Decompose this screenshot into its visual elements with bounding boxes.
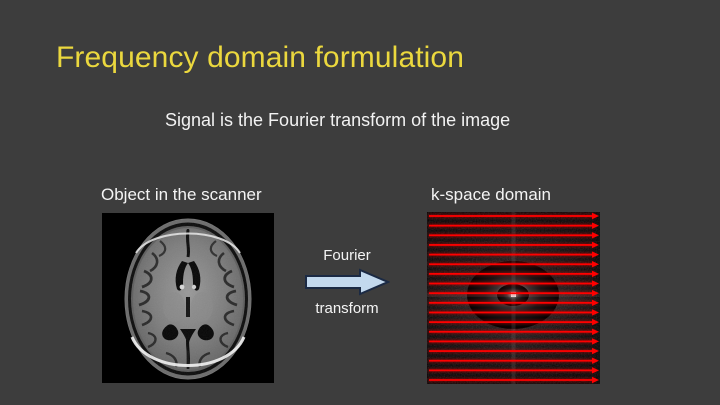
kspace-image	[427, 212, 600, 384]
fourier-transform-annotation: Fourier transform	[297, 246, 397, 318]
right-panel-caption: k-space domain	[431, 184, 551, 206]
fourier-label: Fourier	[297, 246, 397, 265]
brain-mri-svg	[102, 213, 274, 383]
brain-mri-image	[102, 213, 274, 383]
transform-label: transform	[297, 299, 397, 318]
page-title: Frequency domain formulation	[56, 40, 464, 76]
slide-canvas: Frequency domain formulation Signal is t…	[0, 0, 720, 405]
right-arrow-icon	[297, 268, 397, 296]
left-panel-caption: Object in the scanner	[101, 184, 262, 206]
slide-subtitle: Signal is the Fourier transform of the i…	[165, 108, 510, 132]
kspace-svg	[427, 212, 600, 384]
right-arrow-svg	[304, 268, 390, 296]
